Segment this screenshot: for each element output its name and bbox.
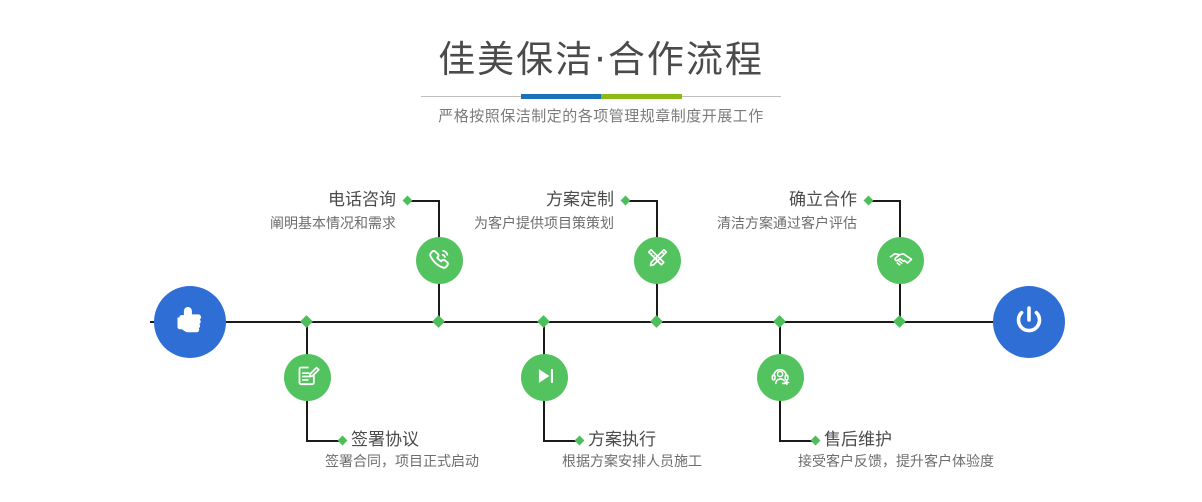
phone-call-icon [426, 245, 454, 277]
connector-horizontal-3 [627, 200, 658, 202]
step-title-3: 方案定制 [414, 189, 614, 211]
axis-diamond-3 [650, 315, 663, 328]
step-desc-5: 清洁方案通过客户评估 [607, 214, 857, 234]
timeline-end-node[interactable] [993, 286, 1065, 358]
axis-diamond-6 [773, 315, 786, 328]
step-title-1: 电话咨询 [196, 189, 396, 211]
step-icon-circle-4[interactable] [521, 354, 568, 401]
process-flow-infographic: 佳美保洁·合作流程 严格按照保洁制定的各项管理规章制度开展工作 [0, 0, 1202, 502]
step-icon-circle-3[interactable] [634, 237, 681, 284]
step-icon-circle-2[interactable] [284, 354, 331, 401]
step-desc-6: 接受客户反馈，提升客户体验度 [798, 452, 1128, 472]
step-icon-circle-1[interactable] [416, 237, 463, 284]
label-diamond-3 [621, 196, 631, 206]
play-execute-icon [532, 363, 558, 393]
step-icon-circle-6[interactable] [757, 354, 804, 401]
pencil-ruler-icon [644, 245, 671, 276]
pointing-hand-icon [170, 300, 210, 344]
axis-diamond-2 [300, 315, 313, 328]
step-icon-circle-5[interactable] [877, 237, 924, 284]
step-title-6: 售后维护 [824, 429, 1104, 451]
handshake-icon [887, 245, 915, 277]
timeline: 电话咨询 阐明基本情况和需求 [0, 0, 1202, 502]
customer-service-icon [767, 362, 794, 393]
step-desc-1: 阐明基本情况和需求 [146, 214, 396, 234]
connector-horizontal-1 [409, 200, 440, 202]
label-diamond-1 [403, 196, 413, 206]
label-diamond-2 [338, 436, 348, 446]
power-icon [1009, 300, 1049, 344]
label-diamond-5 [864, 196, 874, 206]
connector-horizontal-5 [870, 200, 901, 202]
axis-diamond-1 [432, 315, 445, 328]
axis-diamond-4 [537, 315, 550, 328]
document-edit-icon [294, 362, 321, 393]
step-desc-3: 为客户提供项目策策划 [364, 214, 614, 234]
axis-diamond-5 [893, 315, 906, 328]
step-title-5: 确立合作 [657, 189, 857, 211]
timeline-axis [150, 321, 1052, 323]
timeline-start-node[interactable] [154, 286, 226, 358]
